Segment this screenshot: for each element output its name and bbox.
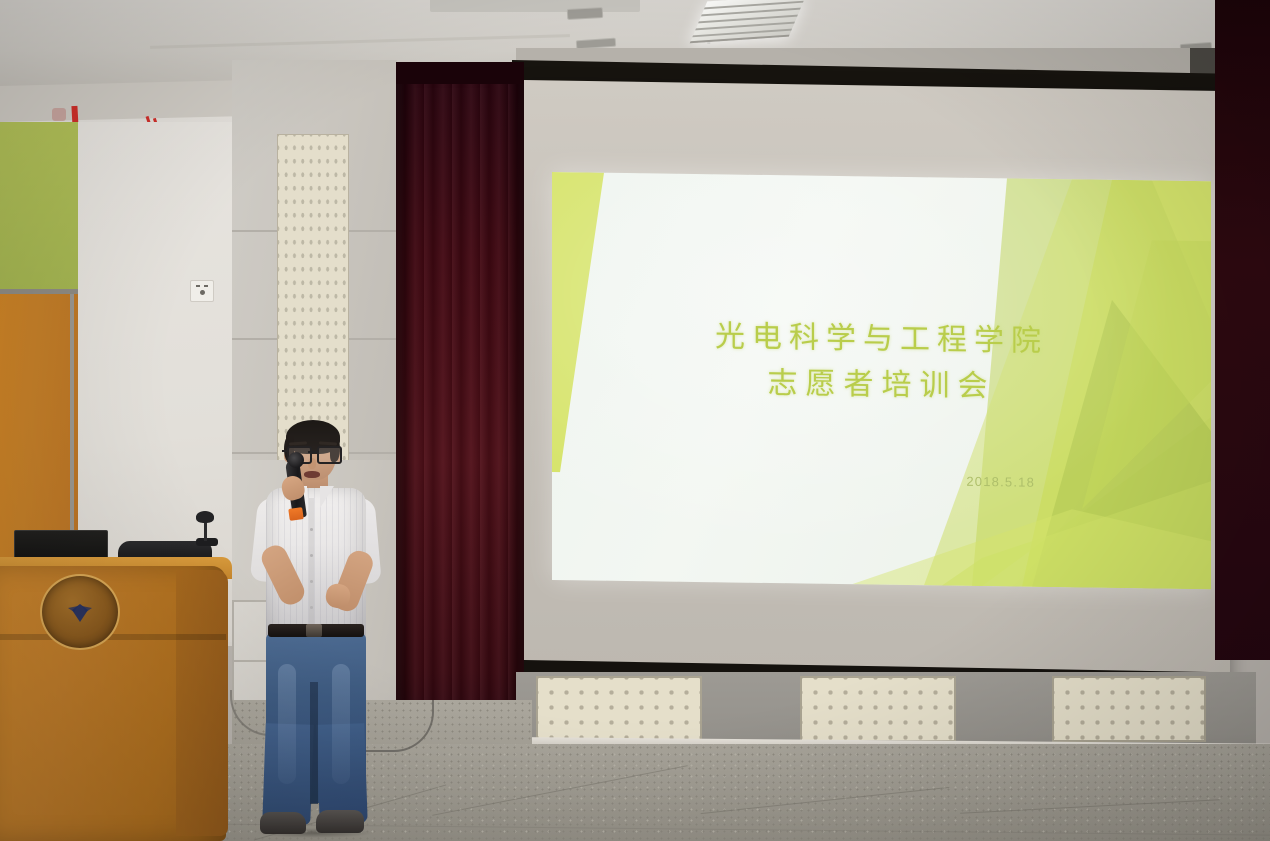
microphone-stand-head xyxy=(196,511,214,523)
shirt-button xyxy=(310,606,313,609)
wall-scuff-mark xyxy=(52,108,66,121)
power-outlet-icon xyxy=(190,280,214,302)
microphone-stand-base xyxy=(196,538,218,546)
slide-title: 光电科学与工程学院 志愿者培训会 xyxy=(552,312,1211,412)
acoustic-panel xyxy=(800,676,956,742)
stage-curtain-right xyxy=(1215,0,1270,660)
glasses-temple xyxy=(282,450,288,452)
green-wall-panel xyxy=(0,122,83,294)
curtain-header xyxy=(396,62,524,84)
shirt-button xyxy=(310,554,313,557)
presenter xyxy=(248,424,388,834)
mouth xyxy=(304,471,320,478)
slide-date: 2018.5.18 xyxy=(966,474,1035,490)
acoustic-panel xyxy=(536,676,702,742)
podium-right-side xyxy=(176,570,228,836)
acoustic-panel xyxy=(1052,676,1206,742)
jeans-highlight xyxy=(332,664,350,784)
shirt-placket xyxy=(309,498,314,634)
slide-title-line-2: 志愿者培训会 xyxy=(552,358,1211,413)
ceiling-panel-seam xyxy=(430,0,640,12)
jeans-highlight xyxy=(278,664,296,784)
acoustic-panel-strip xyxy=(277,134,349,466)
microphone-accent-band xyxy=(288,507,304,521)
stage-curtain-left xyxy=(396,62,524,752)
belt-buckle xyxy=(306,624,322,637)
projected-slide: 光电科学与工程学院 志愿者培训会 2018.5.18 xyxy=(552,172,1211,589)
collar xyxy=(320,486,334,508)
university-seal-icon xyxy=(40,574,120,650)
shirt-button xyxy=(310,580,313,583)
leg-separation-shadow xyxy=(310,682,318,804)
glasses-bridge xyxy=(308,451,317,453)
ceiling-vent-icon xyxy=(567,7,604,20)
right-shoe xyxy=(316,810,364,833)
shirt-button xyxy=(310,528,313,531)
left-soffit-beam xyxy=(0,80,242,122)
glasses-lens xyxy=(317,446,342,464)
left-shoe xyxy=(260,812,306,834)
podium-edge-line xyxy=(0,634,226,640)
lecture-hall-photo: 光电科学与工程学院 志愿者培训会 2018.5.18 xyxy=(0,0,1270,841)
seal-text-ring xyxy=(50,620,110,636)
